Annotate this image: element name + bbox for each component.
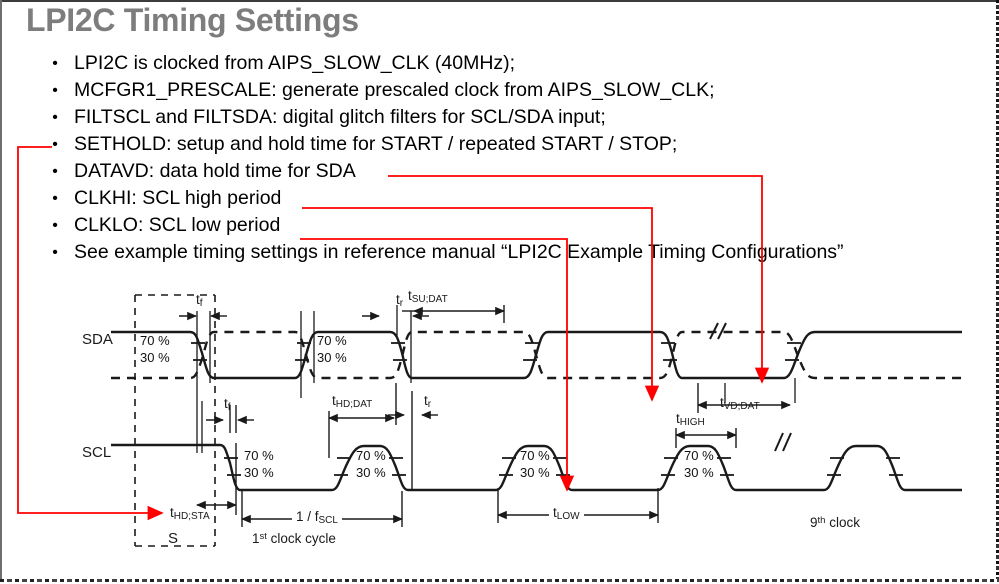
label-sub: HD;DAT xyxy=(336,399,372,410)
label-ninth-clock: 9th clock xyxy=(810,515,860,530)
bullet-glyph-icon: • xyxy=(48,131,62,158)
scan-edge-left xyxy=(0,0,2,582)
timing-diagram: SDA SCL 70 % 30 % 70 % 30 % 70 % 30 % 70… xyxy=(84,283,989,579)
scl-level-ticks xyxy=(224,458,903,475)
label-tvd-dat: tVD;DAT xyxy=(720,395,760,412)
label-thd-sta: tHD;STA xyxy=(170,505,210,522)
bullet-item-datavd: • DATAVD: data hold time for SDA xyxy=(48,158,978,185)
label-sub: f xyxy=(200,298,203,309)
timing-waveform-svg xyxy=(84,283,989,579)
bullet-glyph-icon: • xyxy=(48,239,62,266)
label-num: 9 xyxy=(810,515,818,530)
sda-pct-low-mid: 30 % xyxy=(317,350,347,365)
label-tf-sda: tf xyxy=(196,292,203,309)
sda-pct-high-mid: 70 % xyxy=(317,333,347,348)
row-label-sda: SDA xyxy=(82,331,113,348)
scl-pct-high-3: 70 % xyxy=(520,448,550,463)
scl-pct-low-1: 30 % xyxy=(244,465,274,480)
bullet-item-clklo: • CLKLO: SCL low period xyxy=(48,212,978,239)
bullet-text: FILTSCL and FILTSDA: digital glitch filt… xyxy=(74,104,606,131)
row-label-scl: SCL xyxy=(82,444,111,461)
sda-pct-high-left: 70 % xyxy=(140,333,170,348)
bullet-glyph-icon: • xyxy=(48,212,62,239)
bullet-item-clkhi: • CLKHI: SCL high period xyxy=(48,185,978,212)
label-num: 1 xyxy=(252,531,260,546)
label-sub: HIGH xyxy=(680,417,705,428)
label-scl-period: 1 / fSCL xyxy=(292,509,342,526)
label-rest: clock xyxy=(825,515,860,530)
scl-pct-low-4: 30 % xyxy=(684,465,714,480)
bullet-item-mcfgr1-prescale: • MCFGR1_PRESCALE: generate prescaled cl… xyxy=(48,77,978,104)
scl-pct-low-2: 30 % xyxy=(356,465,386,480)
label-sub: r xyxy=(428,399,431,410)
bullet-item-sethold: • SETHOLD: setup and hold time for START… xyxy=(48,131,978,158)
label-thigh: tHIGH xyxy=(676,411,705,428)
bullet-glyph-icon: • xyxy=(48,104,62,131)
scl-pct-low-3: 30 % xyxy=(520,465,550,480)
bullet-text: MCFGR1_PRESCALE: generate prescaled cloc… xyxy=(74,77,715,104)
bullet-glyph-icon: • xyxy=(48,185,62,212)
bullet-text: DATAVD: data hold time for SDA xyxy=(74,158,356,185)
label-start-marker: S xyxy=(168,530,178,547)
dim-tsu-dat xyxy=(402,305,504,323)
label-sup: st xyxy=(260,531,267,542)
label-base: 1 / f xyxy=(296,509,319,524)
page-title: LPI2C Timing Settings xyxy=(26,2,359,39)
slide-canvas: LPI2C Timing Settings • LPI2C is clocked… xyxy=(0,0,999,582)
label-sub: SCL xyxy=(319,515,338,526)
bullet-text: CLKLO: SCL low period xyxy=(74,212,280,239)
label-sub: HD;STA xyxy=(174,511,210,522)
scl-pct-high-1: 70 % xyxy=(244,448,274,463)
bullet-item-filtscl-filtsda: • FILTSCL and FILTSDA: digital glitch fi… xyxy=(48,104,978,131)
scl-pct-high-4: 70 % xyxy=(684,448,714,463)
bullet-glyph-icon: • xyxy=(48,158,62,185)
label-tr-sda: tr xyxy=(396,292,403,309)
bullet-text: See example timing settings in reference… xyxy=(74,239,844,266)
label-first-clock-cycle: 1st clock cycle xyxy=(252,531,336,546)
bullet-text: CLKHI: SCL high period xyxy=(74,185,281,212)
label-tsu-dat: tSU;DAT xyxy=(408,288,448,305)
sda-pct-low-left: 30 % xyxy=(140,350,170,365)
label-rest: clock cycle xyxy=(267,531,336,546)
sda-waveform-dashed xyxy=(111,332,962,378)
bullet-item-lpi2c-clock: • LPI2C is clocked from AIPS_SLOW_CLK (4… xyxy=(48,50,978,77)
label-sub: SU;DAT xyxy=(412,294,448,305)
label-thd-dat: tHD;DAT xyxy=(332,393,372,410)
bullet-item-see-example: • See example timing settings in referen… xyxy=(48,239,978,266)
label-sub: f xyxy=(228,402,231,413)
bullet-glyph-icon: • xyxy=(48,77,62,104)
scl-break-symbol xyxy=(775,433,791,451)
label-tlow: tLOW xyxy=(549,505,584,522)
bullet-list: • LPI2C is clocked from AIPS_SLOW_CLK (4… xyxy=(48,50,978,266)
bullet-text: LPI2C is clocked from AIPS_SLOW_CLK (40M… xyxy=(74,50,515,77)
bullet-glyph-icon: • xyxy=(48,50,62,77)
label-sub: VD;DAT xyxy=(724,401,760,412)
label-sub: LOW xyxy=(557,511,580,522)
scl-pct-high-2: 70 % xyxy=(356,448,386,463)
label-tr-scl: tr xyxy=(424,393,431,410)
bullet-text: SETHOLD: setup and hold time for START /… xyxy=(74,131,677,158)
sda-level-ticks xyxy=(191,343,801,360)
label-sub: r xyxy=(400,298,403,309)
label-tf-scl: tf xyxy=(224,396,231,413)
